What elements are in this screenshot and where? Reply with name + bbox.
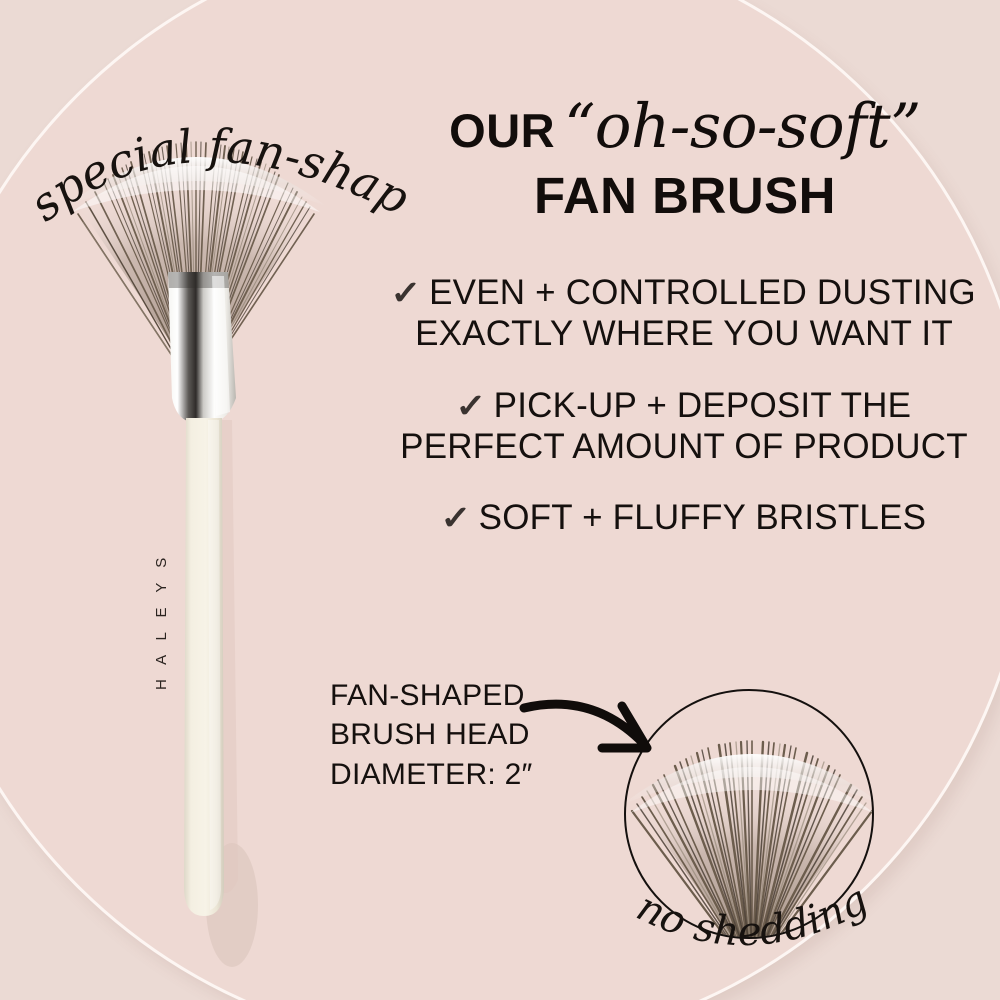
checkmark-icon: ✓ [440, 499, 471, 538]
curved-arrow-icon [518, 686, 698, 796]
headline: OUR“oh-so-soft” FAN BRUSH [385, 96, 985, 221]
checkmark-icon: ✓ [455, 387, 486, 426]
feature-text-line-2: PERFECT AMOUNT OF PRODUCT [400, 427, 968, 466]
feature-item: ✓EVEN + CONTROLLED DUSTING EXACTLY WHERE… [383, 272, 985, 355]
callout-line-3: DIAMETER: 2″ [330, 755, 533, 794]
callout-line-1: FAN-SHAPED [330, 676, 533, 715]
feature-text-line-1: SOFT + FLUFFY BRISTLES [479, 498, 927, 537]
checkmark-icon: ✓ [391, 274, 422, 313]
headline-word-oh-so-soft: “oh-so-soft” [564, 91, 921, 162]
feature-item: ✓SOFT + FLUFFY BRISTLES [383, 497, 985, 538]
feature-item: ✓PICK-UP + DEPOSIT THE PERFECT AMOUNT OF… [383, 385, 985, 468]
headline-line-1: OUR“oh-so-soft” [385, 96, 985, 157]
diameter-callout: FAN-SHAPED BRUSH HEAD DIAMETER: 2″ [330, 676, 533, 794]
brand-name-on-handle: H A L E Y S [153, 570, 170, 690]
feature-list: ✓EVEN + CONTROLLED DUSTING EXACTLY WHERE… [383, 272, 985, 538]
headline-line-2: FAN BRUSH [385, 170, 985, 221]
callout-line-2: BRUSH HEAD [330, 715, 533, 754]
headline-word-our: OUR [449, 104, 555, 157]
special-fan-shape-label: special fan-shape [0, 60, 420, 230]
product-infographic: H A L E Y S special fan-shape OUR“oh-so-… [0, 0, 1000, 1000]
feature-text-line-2: EXACTLY WHERE YOU WANT IT [415, 314, 953, 353]
feature-text-line-1: EVEN + CONTROLLED DUSTING [429, 273, 976, 312]
feature-text-line-1: PICK-UP + DEPOSIT THE [494, 386, 912, 425]
no-shedding-label: no shedding [615, 905, 905, 995]
